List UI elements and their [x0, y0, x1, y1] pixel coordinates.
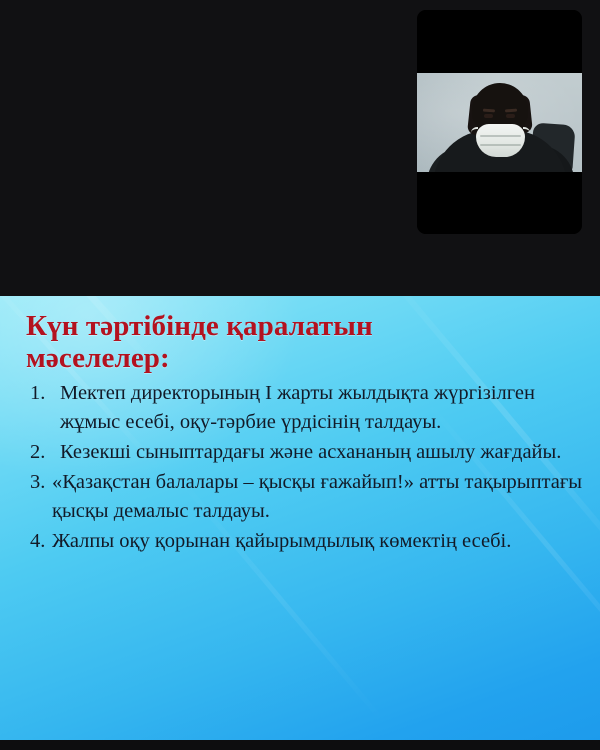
video-letterbox-top [417, 10, 582, 73]
mask-fold-upper [480, 135, 521, 137]
list-item-number: 4. [26, 527, 52, 556]
list-item-number: 2. [26, 438, 60, 467]
list-item-label: Жалпы оқу қорынан қайырымдылық көмектің … [52, 527, 586, 556]
participant-camera-feed [417, 73, 582, 172]
shared-presentation-slide[interactable]: Күн тәртібінде қаралатын мәселелер: 1. М… [0, 296, 600, 740]
agenda-list: 1. Мектеп директорының I жарты жылдықта … [26, 379, 586, 557]
slide-title: Күн тәртібінде қаралатын мәселелер: [26, 310, 426, 375]
participant-video-tile[interactable] [417, 10, 582, 234]
right-eye [506, 114, 515, 118]
screen-recording-frame: Күн тәртібінде қаралатын мәселелер: 1. М… [0, 0, 600, 750]
video-conference-stage [0, 0, 600, 296]
list-item-label: Мектеп директорының I жарты жылдықта жүр… [60, 379, 586, 437]
list-item: 4. Жалпы оқу қорынан қайырымдылық көмект… [26, 527, 586, 556]
left-eye [484, 114, 493, 118]
list-item: 3. «Қазақстан балалары – қысқы ғажайып!»… [26, 468, 586, 526]
slide-content: Күн тәртібінде қаралатын мәселелер: 1. М… [0, 296, 600, 557]
list-item-label: «Қазақстан балалары – қысқы ғажайып!» ат… [52, 468, 586, 526]
list-item: 2. Кезекші сыныптардағы және асхананың а… [26, 438, 586, 467]
bottom-letterbox-bar [0, 740, 600, 750]
list-item-number: 3. [26, 468, 52, 497]
video-letterbox-bottom [417, 172, 582, 234]
list-item: 1. Мектеп директорының I жарты жылдықта … [26, 379, 586, 437]
list-item-number: 1. [26, 379, 60, 408]
list-item-label: Кезекші сыныптардағы және асхананың ашыл… [60, 438, 586, 467]
mask-fold-lower [480, 144, 521, 146]
face-mask-icon [476, 124, 525, 157]
